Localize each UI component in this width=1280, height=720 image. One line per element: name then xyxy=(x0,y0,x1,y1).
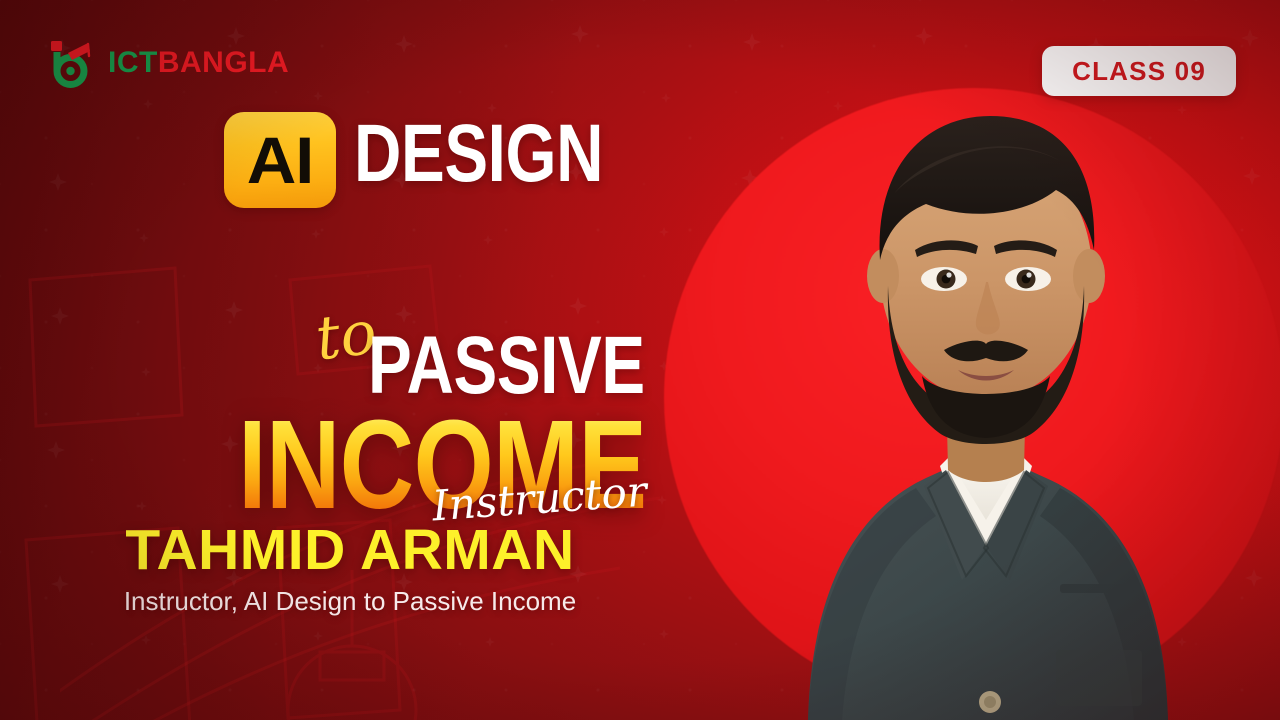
title-block: AI DESIGN to PASSIVE INCOME xyxy=(0,108,640,212)
instructor-name: TAHMID ARMAN xyxy=(0,522,700,579)
brand-logo[interactable]: ICTBANGLA xyxy=(48,36,289,90)
ai-chip: AI xyxy=(224,112,336,208)
instructor-subtitle: Instructor, AI Design to Passive Income xyxy=(0,586,700,617)
title-word-passive: PASSIVE xyxy=(368,328,645,403)
brand-name: ICTBANGLA xyxy=(108,48,289,78)
thumbnail-canvas: ICTBANGLA CLASS 09 AI DESIGN to PASSIVE … xyxy=(0,0,1280,720)
title-word-design: DESIGN xyxy=(354,116,603,191)
class-badge[interactable]: CLASS 09 xyxy=(1042,46,1236,96)
ictbangla-logo-icon xyxy=(48,38,96,88)
ai-chip-label: AI xyxy=(247,127,314,193)
brand-name-bangla: BANGLA xyxy=(158,46,289,79)
instructor-portrait xyxy=(690,54,1280,720)
brand-name-ict: ICT xyxy=(108,46,158,79)
